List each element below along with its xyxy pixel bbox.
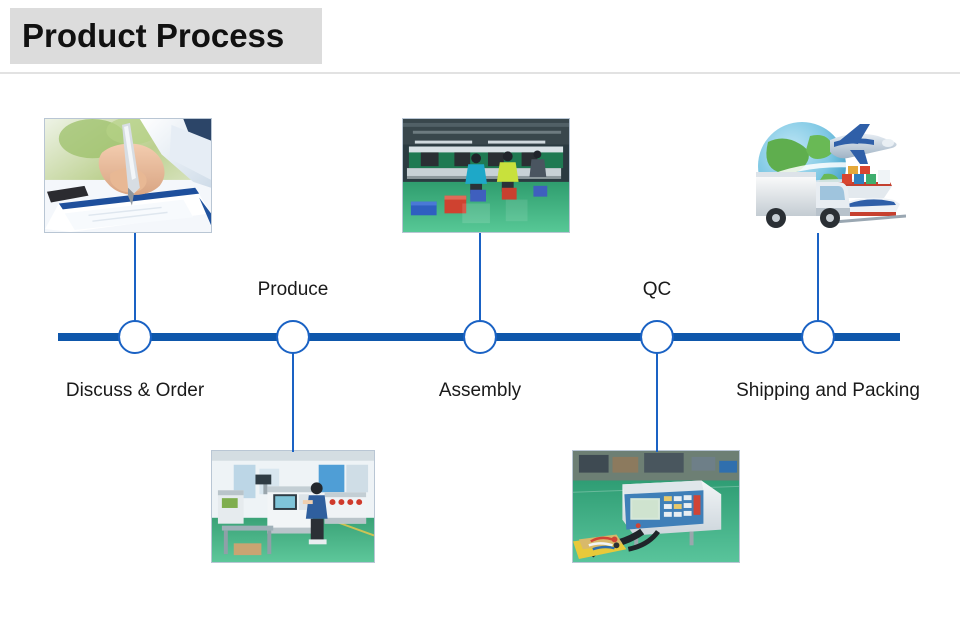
timeline-label-qc: QC [643, 279, 672, 301]
assembly-line-illustration [403, 119, 569, 232]
page-title: Product Process [10, 17, 284, 55]
connector-line-step-5 [817, 233, 819, 323]
connector-line-step-1 [134, 233, 136, 323]
timeline-label-produce: Produce [258, 279, 329, 301]
contract-signing-photo [44, 118, 212, 233]
timeline-node-1[interactable] [118, 320, 152, 354]
timeline-node-3[interactable] [463, 320, 497, 354]
timeline-node-5[interactable] [801, 320, 835, 354]
qc-testing-photo [572, 450, 740, 563]
connector-line-step-4 [656, 350, 658, 452]
header-divider [0, 72, 960, 74]
logistics-illustration [738, 112, 906, 238]
timeline-label-discuss-order: Discuss & Order [66, 380, 204, 402]
connector-line-step-2 [292, 350, 294, 452]
timeline-label-shipping-packing: Shipping and Packing [736, 380, 920, 402]
timeline-node-2[interactable] [276, 320, 310, 354]
connector-line-step-3 [479, 233, 481, 323]
assembly-line-photo [402, 118, 570, 233]
timeline-label-assembly: Assembly [439, 380, 521, 402]
production-workshop-photo [211, 450, 375, 563]
production-workshop-illustration [212, 451, 374, 562]
qc-testing-illustration [573, 451, 739, 562]
slide-root: Product Process [0, 0, 960, 617]
logistics-shipping-graphic [738, 112, 906, 238]
timeline-node-4[interactable] [640, 320, 674, 354]
contract-signing-illustration [45, 119, 211, 232]
page-title-box: Product Process [10, 8, 322, 64]
